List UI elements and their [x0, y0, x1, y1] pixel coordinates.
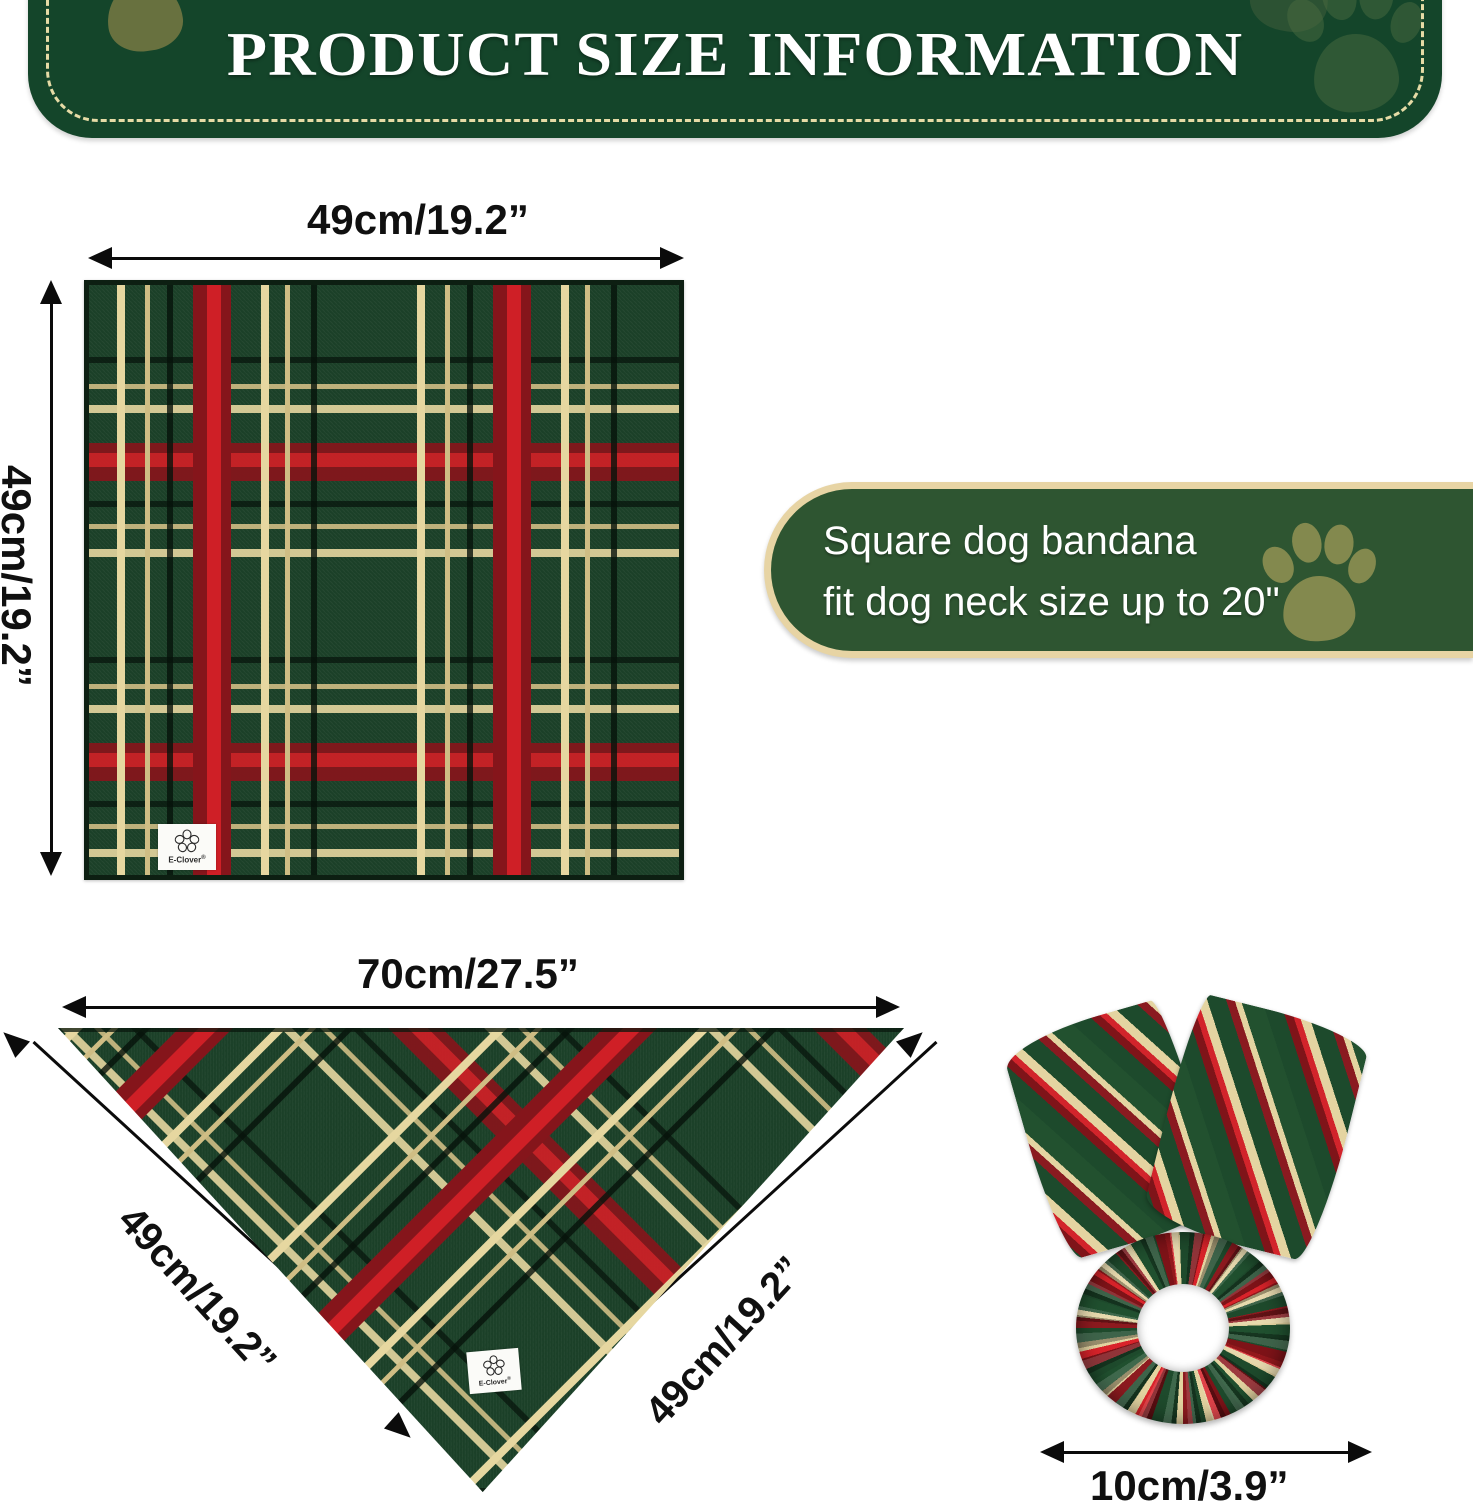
dimension-label-square-left: 49cm/19.2”: [0, 465, 40, 687]
infographic-canvas: PRODUCT SIZE INFORMATION 49cm/19.2” 49cm…: [0, 0, 1473, 1500]
dimension-label-scrunchie: 10cm/3.9”: [1090, 1462, 1288, 1510]
clover-flower-icon: [481, 1354, 506, 1377]
callout-square-bandana: Square dog bandana fit dog neck size up …: [764, 482, 1473, 658]
triangle-bandana-hem: [58, 1028, 904, 1492]
arrow-head-left-icon: [1040, 1441, 1064, 1463]
square-bandana: E-Clover®: [84, 280, 684, 880]
page-title: PRODUCT SIZE INFORMATION: [28, 20, 1442, 91]
dimension-label-square-top: 49cm/19.2”: [307, 196, 529, 244]
dimension-arrow-square-top: [100, 257, 672, 260]
callout-line-1: Square dog bandana: [823, 511, 1473, 572]
dimension-label-triangle-top: 70cm/27.5”: [357, 950, 579, 998]
scrunchie-product: [1014, 1006, 1354, 1406]
brand-tag-text: E-Clover®: [168, 855, 205, 865]
brand-tag-square: E-Clover®: [158, 824, 216, 870]
arrow-head-upleft-icon: [0, 1024, 30, 1058]
plaid-pattern: [89, 285, 679, 875]
square-bandana-fabric: [89, 285, 679, 875]
dimension-arrow-scrunchie: [1058, 1451, 1354, 1454]
arrow-head-left-icon: [62, 996, 86, 1018]
brand-tag-triangle: E-Clover®: [466, 1348, 521, 1394]
square-bandana-hem: [84, 280, 684, 880]
brand-tag-text: E-Clover®: [478, 1377, 511, 1388]
dimension-arrow-triangle-top: [76, 1006, 888, 1009]
clover-flower-icon: [174, 829, 200, 853]
scrunchie-ring: [1076, 1232, 1290, 1424]
triangle-bandana: E-Clover®: [58, 1028, 904, 1492]
dimension-arrow-square-left: [50, 292, 53, 864]
arrow-head-right-icon: [876, 996, 900, 1018]
arrow-head-down-icon: [40, 852, 62, 876]
scrunchie-hole: [1137, 1284, 1229, 1372]
callout-line-2: fit dog neck size up to 20": [823, 572, 1473, 633]
arrow-head-right-icon: [660, 247, 684, 269]
arrow-head-up-icon: [40, 280, 62, 304]
header-banner: PRODUCT SIZE INFORMATION: [28, 0, 1442, 138]
arrow-head-right-icon: [1348, 1441, 1372, 1463]
arrow-head-left-icon: [88, 247, 112, 269]
